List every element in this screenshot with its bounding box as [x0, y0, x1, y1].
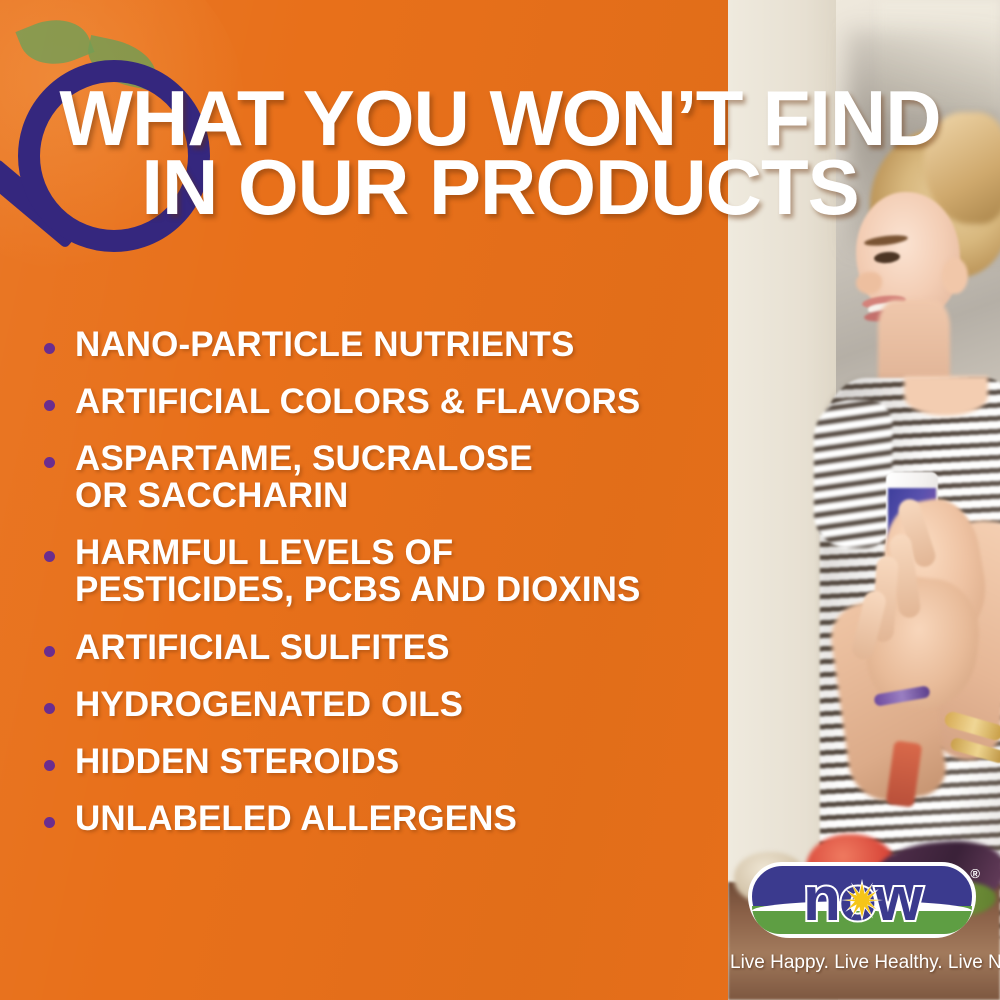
- page-title: WHAT YOU WON’T FIND IN OUR PRODUCTS: [0, 84, 1000, 221]
- sunburst-icon: [840, 878, 884, 922]
- list-item-label: ARTIFICIAL SULFITES: [75, 629, 450, 666]
- list-item-label: UNLABELED ALLERGENS: [75, 800, 517, 837]
- logo-mark: now ®: [748, 862, 976, 938]
- bullet-dot-icon: [44, 457, 55, 468]
- bullet-dot-icon: [44, 817, 55, 828]
- bullet-dot-icon: [44, 646, 55, 657]
- list-item: ARTIFICIAL SULFITES: [44, 629, 734, 666]
- list-item-label: NANO-PARTICLE NUTRIENTS: [75, 326, 574, 363]
- shirt-sleeve: [814, 400, 892, 548]
- promotional-poster: WHAT YOU WON’T FIND IN OUR PRODUCTS NANO…: [0, 0, 1000, 1000]
- registered-trademark-icon: ®: [970, 866, 980, 881]
- woman-nose: [856, 272, 882, 294]
- list-item: ASPARTAME, SUCRALOSE OR SACCHARIN: [44, 440, 734, 514]
- list-item: UNLABELED ALLERGENS: [44, 800, 734, 837]
- list-item-label: ARTIFICIAL COLORS & FLAVORS: [75, 383, 640, 420]
- list-item-label: ASPARTAME, SUCRALOSE OR SACCHARIN: [75, 440, 533, 514]
- list-item: HARMFUL LEVELS OF PESTICIDES, PCBS AND D…: [44, 534, 734, 608]
- woman-ear: [942, 258, 968, 294]
- shirt-collar: [904, 376, 988, 416]
- list-item: HYDROGENATED OILS: [44, 686, 734, 723]
- bullet-dot-icon: [44, 760, 55, 771]
- bullet-dot-icon: [44, 703, 55, 714]
- bullet-dot-icon: [44, 343, 55, 354]
- bullet-dot-icon: [44, 400, 55, 411]
- bullet-dot-icon: [44, 551, 55, 562]
- now-foods-logo: now ® Live Happy. Live Healthy. Live NOW…: [730, 862, 992, 974]
- logo-tagline: Live Happy. Live Healthy. Live NOW.: [730, 952, 992, 974]
- list-item: ARTIFICIAL COLORS & FLAVORS: [44, 383, 734, 420]
- headline-line2: IN OUR PRODUCTS: [0, 153, 1000, 222]
- list-item-label: HYDROGENATED OILS: [75, 686, 463, 723]
- list-item: HIDDEN STEROIDS: [44, 743, 734, 780]
- list-item-label: HARMFUL LEVELS OF PESTICIDES, PCBS AND D…: [75, 534, 640, 608]
- exclusions-list: NANO-PARTICLE NUTRIENTS ARTIFICIAL COLOR…: [44, 326, 734, 857]
- list-item-label: HIDDEN STEROIDS: [75, 743, 399, 780]
- list-item: NANO-PARTICLE NUTRIENTS: [44, 326, 734, 363]
